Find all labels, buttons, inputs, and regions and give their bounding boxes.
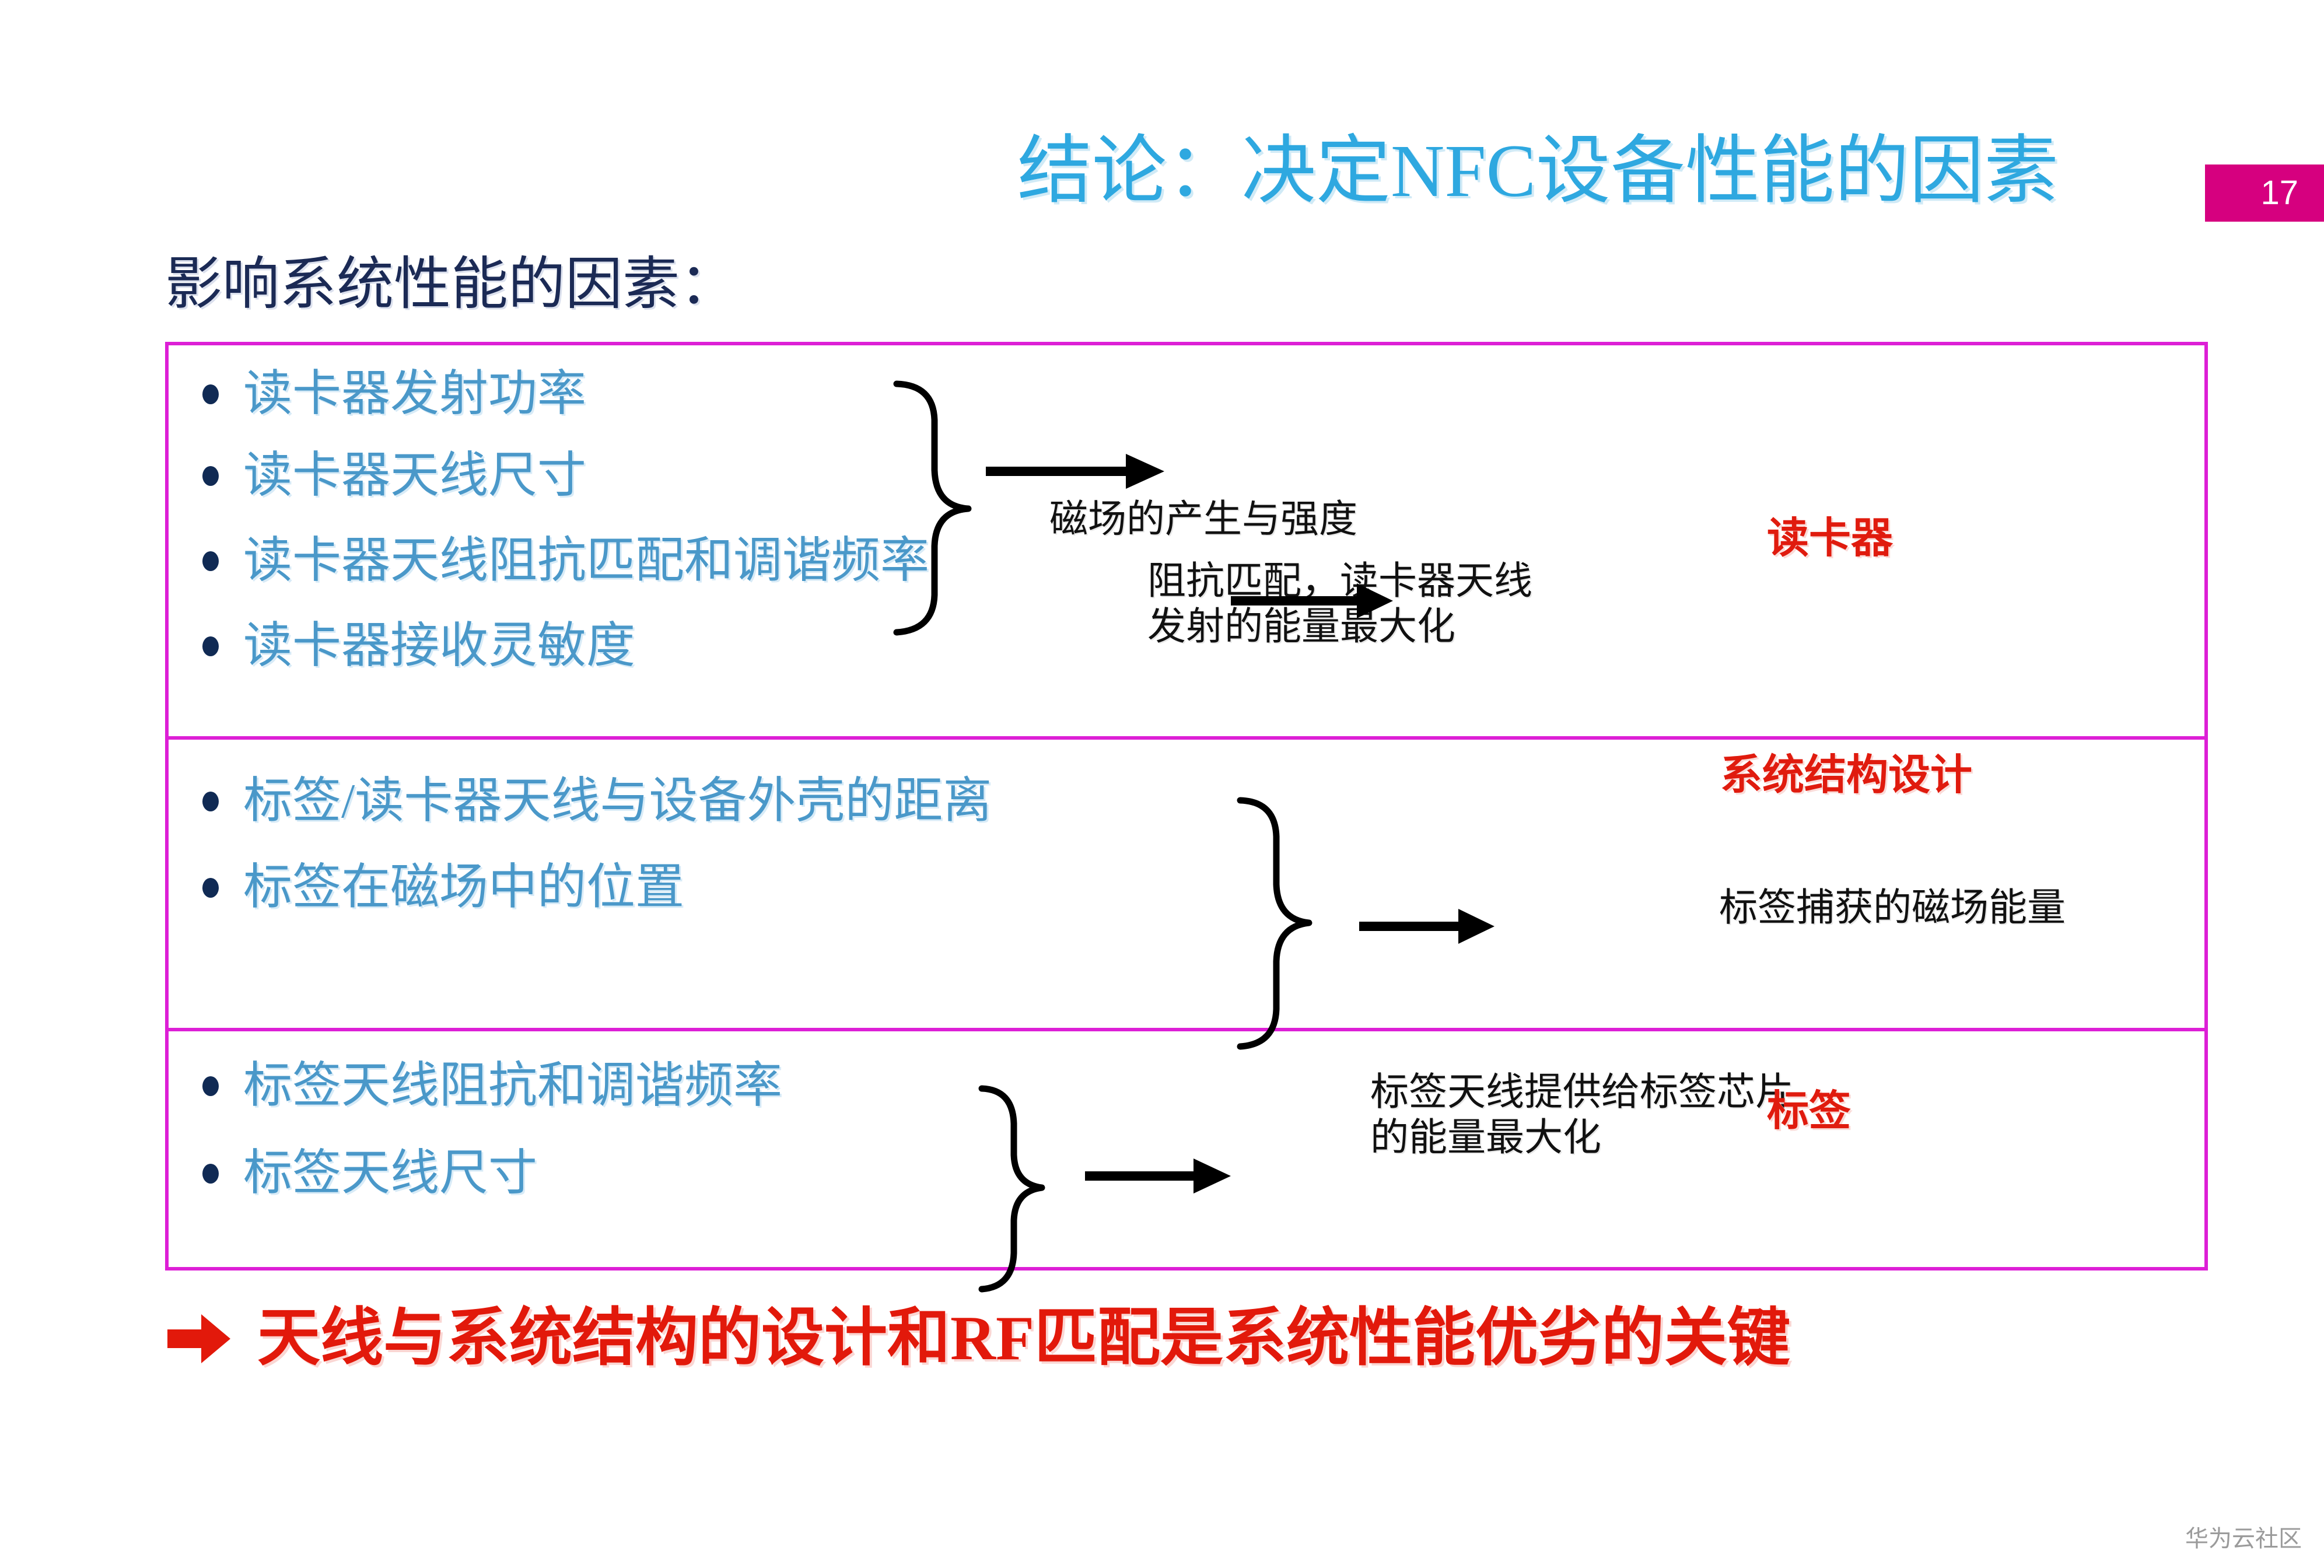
conclusion-row: 天线与系统结构的设计和RF匹配是系统性能优劣的关键 xyxy=(165,1302,1790,1375)
list-item: 标签天线阻抗和调谐频率 xyxy=(202,1058,782,1114)
list-item: 标签在磁场中的位置 xyxy=(202,860,684,916)
bullet-dot-icon xyxy=(202,466,219,486)
list-item-label: 标签天线阻抗和调谐频率 xyxy=(243,1058,782,1114)
bullet-dot-icon xyxy=(202,636,219,656)
list-item: 读卡器天线阻抗匹配和调谐频率 xyxy=(202,533,929,589)
list-item: 读卡器天线尺寸 xyxy=(202,448,586,504)
list-item-label: 读卡器发射功率 xyxy=(243,366,586,422)
list-item: 读卡器发射功率 xyxy=(202,366,586,422)
section-tag: 标签天线阻抗和调谐频率 标签天线尺寸 标签天线提供给标签芯片 的能量最大化 标签 xyxy=(169,1031,2204,1270)
list-item-label: 标签天线尺寸 xyxy=(243,1146,537,1202)
bullet-dot-icon xyxy=(202,551,219,571)
group-label-reader: 读卡器 xyxy=(1767,514,1893,562)
conclusion-text: 天线与系统结构的设计和RF匹配是系统性能优劣的关键 xyxy=(257,1302,1790,1375)
bullet-dot-icon xyxy=(202,384,219,404)
bullet-dot-icon xyxy=(202,878,219,898)
outcome-text: 标签捕获的磁场能量 xyxy=(1719,885,2066,931)
list-item-label: 标签/读卡器天线与设备外壳的距离 xyxy=(243,773,992,829)
list-item-label: 标签在磁场中的位置 xyxy=(243,860,684,916)
list-item-label: 读卡器接收灵敏度 xyxy=(243,618,635,674)
outcome-text: 标签天线提供给标签芯片 的能量最大化 xyxy=(1370,1070,1794,1161)
outcome-text: 磁场的产生与强度 xyxy=(1049,497,1357,542)
watermark: 华为云社区 xyxy=(2185,1525,2302,1553)
list-item: 读卡器接收灵敏度 xyxy=(202,618,635,674)
slide-canvas: 结论：决定NFC设备性能的因素 17 影响系统性能的因素： 读卡器发射功率 读卡… xyxy=(0,0,2324,1568)
list-item-label: 读卡器天线阻抗匹配和调谐频率 xyxy=(243,533,929,589)
page-number-badge: 17 xyxy=(2205,164,2324,222)
page-title: 结论：决定NFC设备性能的因素 xyxy=(1017,127,2059,215)
section-reader: 读卡器发射功率 读卡器天线尺寸 读卡器天线阻抗匹配和调谐频率 读卡器接收灵敏度 … xyxy=(169,345,2204,740)
list-item-label: 读卡器天线尺寸 xyxy=(243,448,586,504)
right-arrow-icon xyxy=(165,1308,233,1369)
section-system: 标签/读卡器天线与设备外壳的距离 标签在磁场中的位置 标签捕获的磁场能量 系统结… xyxy=(169,740,2204,1031)
factors-box: 读卡器发射功率 读卡器天线尺寸 读卡器天线阻抗匹配和调谐频率 读卡器接收灵敏度 … xyxy=(165,342,2208,1270)
subtitle: 影响系统性能的因素： xyxy=(165,250,737,320)
bullet-dot-icon xyxy=(202,1164,219,1184)
title-row: 结论：决定NFC设备性能的因素 xyxy=(0,127,2324,215)
bullet-dot-icon xyxy=(202,792,219,811)
list-item: 标签天线尺寸 xyxy=(202,1146,537,1202)
page-number-text: 17 xyxy=(2260,176,2298,210)
bullet-dot-icon xyxy=(202,1076,219,1096)
group-label-system: 系统结构设计 xyxy=(1720,751,1972,799)
group-label-tag: 标签 xyxy=(1767,1087,1851,1135)
outcome-text: 阻抗匹配，读卡器天线 发射的能量最大化 xyxy=(1147,559,1532,650)
list-item: 标签/读卡器天线与设备外壳的距离 xyxy=(202,773,992,829)
